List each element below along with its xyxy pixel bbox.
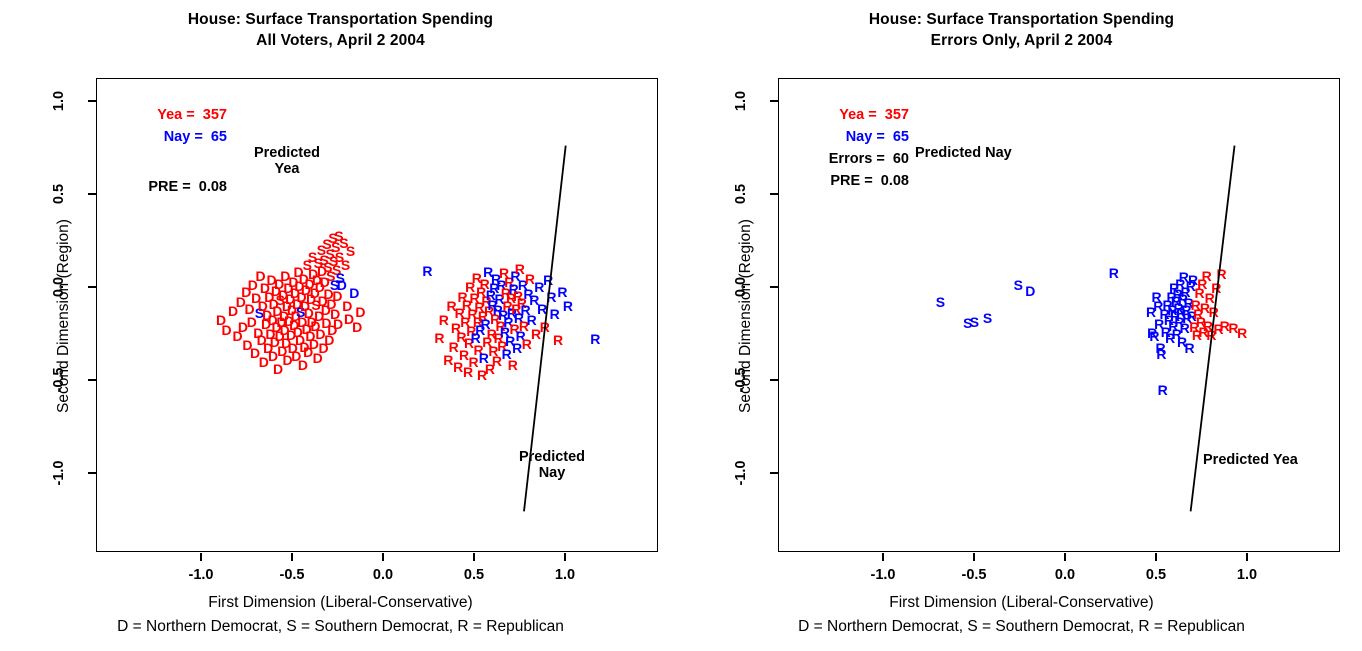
scatter-point-S: S <box>341 258 350 272</box>
ytick-mark-1.0 <box>88 100 96 102</box>
xtick-mark--1.0 <box>882 553 884 561</box>
predicted-yea-label: Predicted Yea <box>1203 452 1298 468</box>
ytick-mark--0.5 <box>770 379 778 381</box>
scatter-point-D: D <box>1025 284 1035 298</box>
scatter-point-R: R <box>1109 266 1119 280</box>
ytick-mark--1.0 <box>770 472 778 474</box>
panel-title-line2: All Voters, April 2 2004 <box>0 32 681 50</box>
scatter-point-R: R <box>1217 267 1227 281</box>
scatter-point-R: R <box>1158 383 1168 397</box>
ytick-mark-1.0 <box>770 100 778 102</box>
scatter-point-R: R <box>540 320 550 334</box>
scatter-point-R: R <box>546 290 556 304</box>
xtick-mark--1.0 <box>200 553 202 561</box>
scatter-point-D: D <box>298 358 308 372</box>
xtick-label-1.0: 1.0 <box>1217 567 1277 583</box>
xtick-label--1.0: -1.0 <box>171 567 231 583</box>
marker-legend-caption: D = Northern Democrat, S = Southern Demo… <box>681 618 1362 636</box>
plot-area-errors-only: SSSSSDRRRRRRRRRRRRRRRRRRRRRRRRRRRRRRRRRR… <box>778 78 1340 552</box>
scatter-point-R: R <box>1156 347 1166 361</box>
xtick-mark-1.0 <box>564 553 566 561</box>
figure-root: House: Surface Transportation Spending A… <box>0 0 1362 651</box>
scatter-point-S: S <box>970 315 979 329</box>
scatter-point-D: D <box>352 320 362 334</box>
yea-stat: Yea = 357 <box>117 107 227 123</box>
nay-stat: Nay = 65 <box>117 129 227 145</box>
scatter-point-R: R <box>557 285 567 299</box>
xtick-label-0.5: 0.5 <box>444 567 504 583</box>
scatter-point-R: R <box>590 332 600 346</box>
scatter-point-R: R <box>492 354 502 368</box>
scatter-point-D: D <box>349 286 359 300</box>
xtick-mark-0.5 <box>473 553 475 561</box>
xtick-mark-1.0 <box>1246 553 1248 561</box>
x-axis-title: First Dimension (Liberal-Conservative) <box>681 594 1362 612</box>
scatter-point-D: D <box>221 323 231 337</box>
xtick-label-0.0: 0.0 <box>353 567 413 583</box>
scatter-point-R: R <box>443 353 453 367</box>
panel-all-voters: House: Surface Transportation Spending A… <box>0 0 681 651</box>
scatter-point-R: R <box>439 313 449 327</box>
ytick-label-1.0: 1.0 <box>51 81 67 121</box>
scatter-point-S: S <box>1014 278 1023 292</box>
predicted-yea-label: Predicted Yea <box>202 145 372 177</box>
xtick-label-0.5: 0.5 <box>1126 567 1186 583</box>
ytick-mark--0.5 <box>88 379 96 381</box>
xtick-label--0.5: -0.5 <box>944 567 1004 583</box>
plot-area-all-voters: DDDDDDDDDDDDDDSDDDDDDDDDDDDDDDDDDDDDSDDD… <box>96 78 658 552</box>
scatter-point-R: R <box>1202 269 1212 283</box>
xtick-label--1.0: -1.0 <box>853 567 913 583</box>
marker-legend-caption: D = Northern Democrat, S = Southern Demo… <box>0 618 681 636</box>
scatter-point-R: R <box>434 331 444 345</box>
panel-title-line1: House: Surface Transportation Spending <box>0 11 681 29</box>
scatter-point-R: R <box>563 299 573 313</box>
yea-stat: Yea = 357 <box>789 107 909 123</box>
xtick-mark--0.5 <box>291 553 293 561</box>
ytick-mark-0.0 <box>770 286 778 288</box>
scatter-point-R: R <box>1184 341 1194 355</box>
ytick-mark-0.0 <box>88 286 96 288</box>
panel-title-line1: House: Surface Transportation Spending <box>681 11 1362 29</box>
xtick-label--0.5: -0.5 <box>262 567 322 583</box>
scatter-point-D: D <box>333 317 343 331</box>
scatter-point-R: R <box>543 273 553 287</box>
panel-errors-only: House: Surface Transportation Spending E… <box>681 0 1362 651</box>
xtick-label-0.0: 0.0 <box>1035 567 1095 583</box>
errors-stat: Errors = 60 <box>789 151 909 167</box>
ytick-mark-0.5 <box>88 193 96 195</box>
nay-stat: Nay = 65 <box>789 129 909 145</box>
scatter-point-R: R <box>508 358 518 372</box>
predicted-nay-label: Predicted Nay <box>915 145 1012 161</box>
scatter-point-D: D <box>355 305 365 319</box>
x-axis-title: First Dimension (Liberal-Conservative) <box>0 594 681 612</box>
scatter-point-R: R <box>553 333 563 347</box>
ytick-mark-0.5 <box>770 193 778 195</box>
xtick-mark-0.0 <box>382 553 384 561</box>
pre-stat: PRE = 0.08 <box>789 173 909 189</box>
panel-title-line2: Errors Only, April 2 2004 <box>681 32 1362 50</box>
ytick-mark--1.0 <box>88 472 96 474</box>
scatter-point-D: D <box>337 278 347 292</box>
predicted-nay-label: Predicted Nay <box>467 449 637 481</box>
scatter-point-R: R <box>1209 305 1219 319</box>
scatter-points-errors-only: SSSSSDRRRRRRRRRRRRRRRRRRRRRRRRRRRRRRRRRR… <box>779 79 1339 551</box>
xtick-label-1.0: 1.0 <box>535 567 595 583</box>
y-axis-title: Second Dimension (Region) <box>55 166 73 466</box>
xtick-mark-0.0 <box>1064 553 1066 561</box>
scatter-point-R: R <box>527 313 537 327</box>
scatter-point-S: S <box>983 311 992 325</box>
scatter-point-R: R <box>515 262 525 276</box>
scatter-point-R: R <box>550 307 560 321</box>
xtick-mark-0.5 <box>1155 553 1157 561</box>
y-axis-title: Second Dimension (Region) <box>737 166 755 466</box>
scatter-point-R: R <box>422 264 432 278</box>
scatter-point-S: S <box>346 244 355 258</box>
ytick-label-1.0: 1.0 <box>733 81 749 121</box>
scatter-point-R: R <box>1237 326 1247 340</box>
pre-stat: PRE = 0.08 <box>117 179 227 195</box>
scatter-point-R: R <box>1211 281 1221 295</box>
xtick-mark--0.5 <box>973 553 975 561</box>
scatter-point-S: S <box>936 295 945 309</box>
